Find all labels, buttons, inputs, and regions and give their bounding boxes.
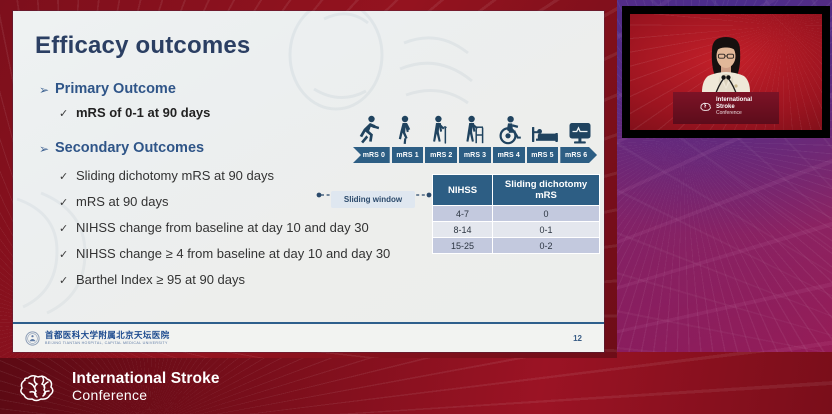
university-seal-icon	[25, 331, 40, 346]
bullet-secondary-1: ✓ Sliding dichotomy mRS at 90 days	[39, 168, 439, 185]
chevron-right-icon: ➢	[39, 81, 55, 98]
mrs-cell-5: mRS 5	[527, 147, 559, 163]
cell-nihss-range: 4-7	[433, 206, 493, 222]
mrs-4-icon-slot	[492, 115, 527, 145]
bullet-label: NIHSS change from baseline at day 10 and…	[76, 220, 369, 236]
column-header-nihss: NIHSS	[433, 175, 493, 206]
cell-mrs-target: 0	[493, 206, 600, 222]
cell-nihss-range: 8-14	[433, 222, 493, 238]
section-heading-label: Secondary Outcomes	[55, 140, 204, 157]
bullet-secondary-3: ✓ NIHSS change from baseline at day 10 a…	[39, 220, 439, 237]
check-icon: ✓	[59, 220, 76, 237]
speaker-video-panel[interactable]: International Stroke Conference	[622, 6, 830, 138]
check-icon: ✓	[59, 246, 76, 263]
podium-logo-line2: Conference	[716, 110, 752, 116]
brain-icon	[700, 101, 713, 112]
mrs-label-bar: mRS 0 mRS 1 mRS 2 mRS 3 mRS 4 mRS 5 mRS …	[353, 147, 597, 163]
mrs-1-icon-slot	[388, 115, 423, 145]
mrs-cell-2: mRS 2	[425, 147, 457, 163]
podium-logo-line1: International	[716, 97, 752, 104]
mrs-3-icon-slot	[458, 115, 493, 145]
chevron-right-icon: ➢	[39, 140, 55, 157]
running-person-icon	[359, 115, 381, 145]
mrs-cell-0: mRS 0	[353, 147, 390, 163]
table-row: 4-7 0	[433, 206, 600, 222]
check-icon: ✓	[59, 272, 76, 289]
slide-footer: 首都医科大学附属北京天坛医院 BEIJING TIANTAN HOSPITAL,…	[13, 322, 604, 352]
flatline-monitor-icon	[568, 119, 592, 145]
check-icon: ✓	[59, 194, 76, 211]
isc-logo-text: International Stroke Conference	[72, 371, 220, 403]
mrs-cell-3: mRS 3	[459, 147, 491, 163]
institution-name-cn: 首都医科大学附属北京天坛医院	[45, 331, 170, 340]
isc-logo-line2: Conference	[72, 387, 220, 403]
podium: International Stroke Conference	[673, 92, 779, 124]
slide-page-number: 12	[573, 334, 582, 343]
isc-logo-line1: International Stroke	[72, 371, 220, 387]
mrs-0-icon-slot	[353, 115, 388, 145]
page-title: Efficacy outcomes	[35, 32, 250, 60]
bullet-label: Sliding dichotomy mRS at 90 days	[76, 168, 274, 184]
isc-logo: International Stroke Conference	[18, 370, 220, 404]
mrs-2-icon-slot	[423, 115, 458, 145]
table-header-row: NIHSS Sliding dichotomy mRS	[433, 175, 600, 206]
bullet-label: Barthel Index ≥ 95 at 90 days	[76, 272, 245, 288]
bullet-label: mRS at 90 days	[76, 194, 169, 210]
column-header-sliding-dichotomy-mrs: Sliding dichotomy mRS	[493, 175, 600, 206]
video-stage-background: International Stroke Conference	[630, 14, 822, 130]
check-icon: ✓	[59, 168, 76, 185]
cell-mrs-target: 0-2	[493, 238, 600, 254]
mrs-cell-1: mRS 1	[392, 147, 424, 163]
sliding-window-callout: Sliding window	[331, 191, 415, 208]
brain-icon	[18, 370, 62, 404]
person-in-bed-icon	[531, 119, 559, 145]
podium-logo: International Stroke Conference	[700, 97, 752, 116]
video-pillarbox-right	[822, 6, 830, 138]
mrs-icon-row	[353, 112, 597, 145]
presentation-slide: Efficacy outcomes ➢ Primary Outcome ✓ mR…	[13, 11, 604, 352]
section-heading-primary-outcome: ➢ Primary Outcome	[39, 81, 439, 98]
section-heading-label: Primary Outcome	[55, 81, 176, 98]
video-letterbox-top	[622, 6, 830, 14]
institution-logo: 首都医科大学附属北京天坛医院 BEIJING TIANTAN HOSPITAL,…	[25, 331, 170, 346]
bullet-secondary-5: ✓ Barthel Index ≥ 95 at 90 days	[39, 272, 439, 289]
bullet-label: NIHSS change ≥ 4 from baseline at day 10…	[76, 246, 390, 262]
check-icon: ✓	[59, 105, 76, 122]
mrs-scale-graphic: mRS 0 mRS 1 mRS 2 mRS 3 mRS 4 mRS 5 mRS …	[353, 112, 597, 163]
table-row: 15-25 0-2	[433, 238, 600, 254]
table-row: 8-14 0-1	[433, 222, 600, 238]
mrs-cell-6: mRS 6	[560, 147, 597, 163]
mrs-cell-4: mRS 4	[493, 147, 525, 163]
person-in-wheelchair-icon	[498, 115, 522, 145]
video-pillarbox-left	[622, 6, 630, 138]
video-letterbox-bottom	[622, 130, 830, 138]
nihss-sliding-dichotomy-table: NIHSS Sliding dichotomy mRS 4-7 0 8-14 0…	[432, 174, 600, 254]
broadcast-screen: Efficacy outcomes ➢ Primary Outcome ✓ mR…	[0, 0, 832, 414]
person-with-cane-icon	[430, 115, 450, 145]
institution-name-en: BEIJING TIANTAN HOSPITAL, CAPITAL MEDICA…	[45, 341, 170, 345]
cell-nihss-range: 15-25	[433, 238, 493, 254]
cell-mrs-target: 0-1	[493, 222, 600, 238]
walking-person-icon	[396, 115, 414, 145]
mrs-6-icon-slot	[562, 119, 597, 145]
bullet-label: mRS of 0-1 at 90 days	[76, 105, 210, 121]
mrs-5-icon-slot	[527, 119, 562, 145]
person-with-walker-icon	[464, 115, 486, 145]
bullet-secondary-4: ✓ NIHSS change ≥ 4 from baseline at day …	[39, 246, 439, 263]
